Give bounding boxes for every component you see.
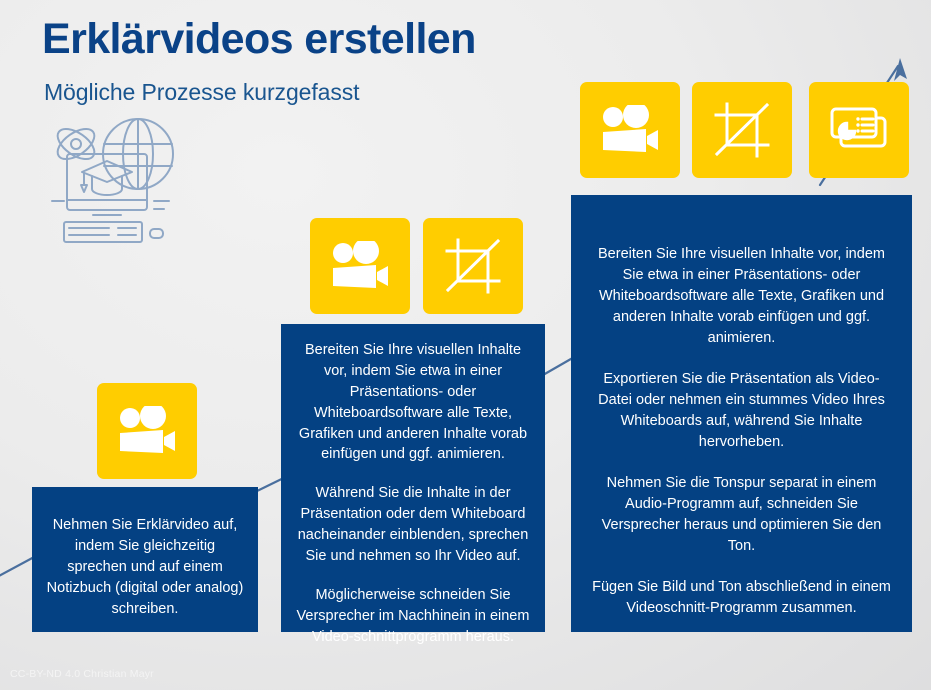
process-box-2: Bereiten Sie Ihre visuellen Inhalte vor,… xyxy=(281,324,545,632)
e-learning-illustration xyxy=(38,112,218,252)
video-camera-icon xyxy=(116,406,178,456)
process-3-paragraph-2: Exportieren Sie die Präsentation als Vid… xyxy=(587,369,896,453)
process-2-paragraph-1: Bereiten Sie Ihre visuellen Inhalte vor,… xyxy=(293,340,533,465)
mouse-icon xyxy=(150,229,163,238)
decorative-dashes xyxy=(52,201,169,209)
presentation-slides-icon xyxy=(827,104,891,156)
process-2-paragraph-3: Möglicherweise schneiden Sie Versprecher… xyxy=(293,585,533,648)
crop-icon xyxy=(443,236,503,296)
process-3-paragraph-3: Nehmen Sie die Tonspur separat in einem … xyxy=(587,473,896,557)
connector-incoming xyxy=(0,556,36,578)
process-box-3: Bereiten Sie Ihre visuellen Inhalte vor,… xyxy=(571,195,912,632)
infographic-canvas: Erklärvideos erstellen Mögliche Prozesse… xyxy=(0,0,931,690)
tile-presentation-stage3[interactable] xyxy=(809,82,909,178)
page-title: Erklärvideos erstellen xyxy=(42,17,476,62)
process-1-paragraph-1: Nehmen Sie Erklärvideo auf, indem Sie gl… xyxy=(46,515,244,619)
process-3-paragraph-1: Bereiten Sie Ihre visuellen Inhalte vor,… xyxy=(587,244,896,349)
crop-icon xyxy=(712,100,772,160)
process-3-paragraph-4: Fügen Sie Bild und Ton abschließend in e… xyxy=(587,577,896,619)
atom-icon xyxy=(52,123,99,165)
video-camera-icon xyxy=(599,105,661,155)
process-2-paragraph-2: Während Sie die Inhalte in der Präsentat… xyxy=(293,483,533,567)
tile-crop-stage3[interactable] xyxy=(692,82,792,178)
process-box-1: Nehmen Sie Erklärvideo auf, indem Sie gl… xyxy=(32,487,258,632)
tile-video-camera-stage3[interactable] xyxy=(580,82,680,178)
video-camera-icon xyxy=(329,241,391,291)
tile-video-camera-stage2[interactable] xyxy=(310,218,410,314)
footer-credit: CC-BY-ND 4.0 Christian Mayr xyxy=(10,668,154,680)
tile-crop-stage2[interactable] xyxy=(423,218,523,314)
keyboard-icon xyxy=(64,222,142,242)
page-subtitle: Mögliche Prozesse kurzgefasst xyxy=(44,79,359,106)
arrow-head-icon xyxy=(894,58,907,81)
tile-video-camera-stage1[interactable] xyxy=(97,383,197,479)
monitor-icon xyxy=(67,154,147,215)
